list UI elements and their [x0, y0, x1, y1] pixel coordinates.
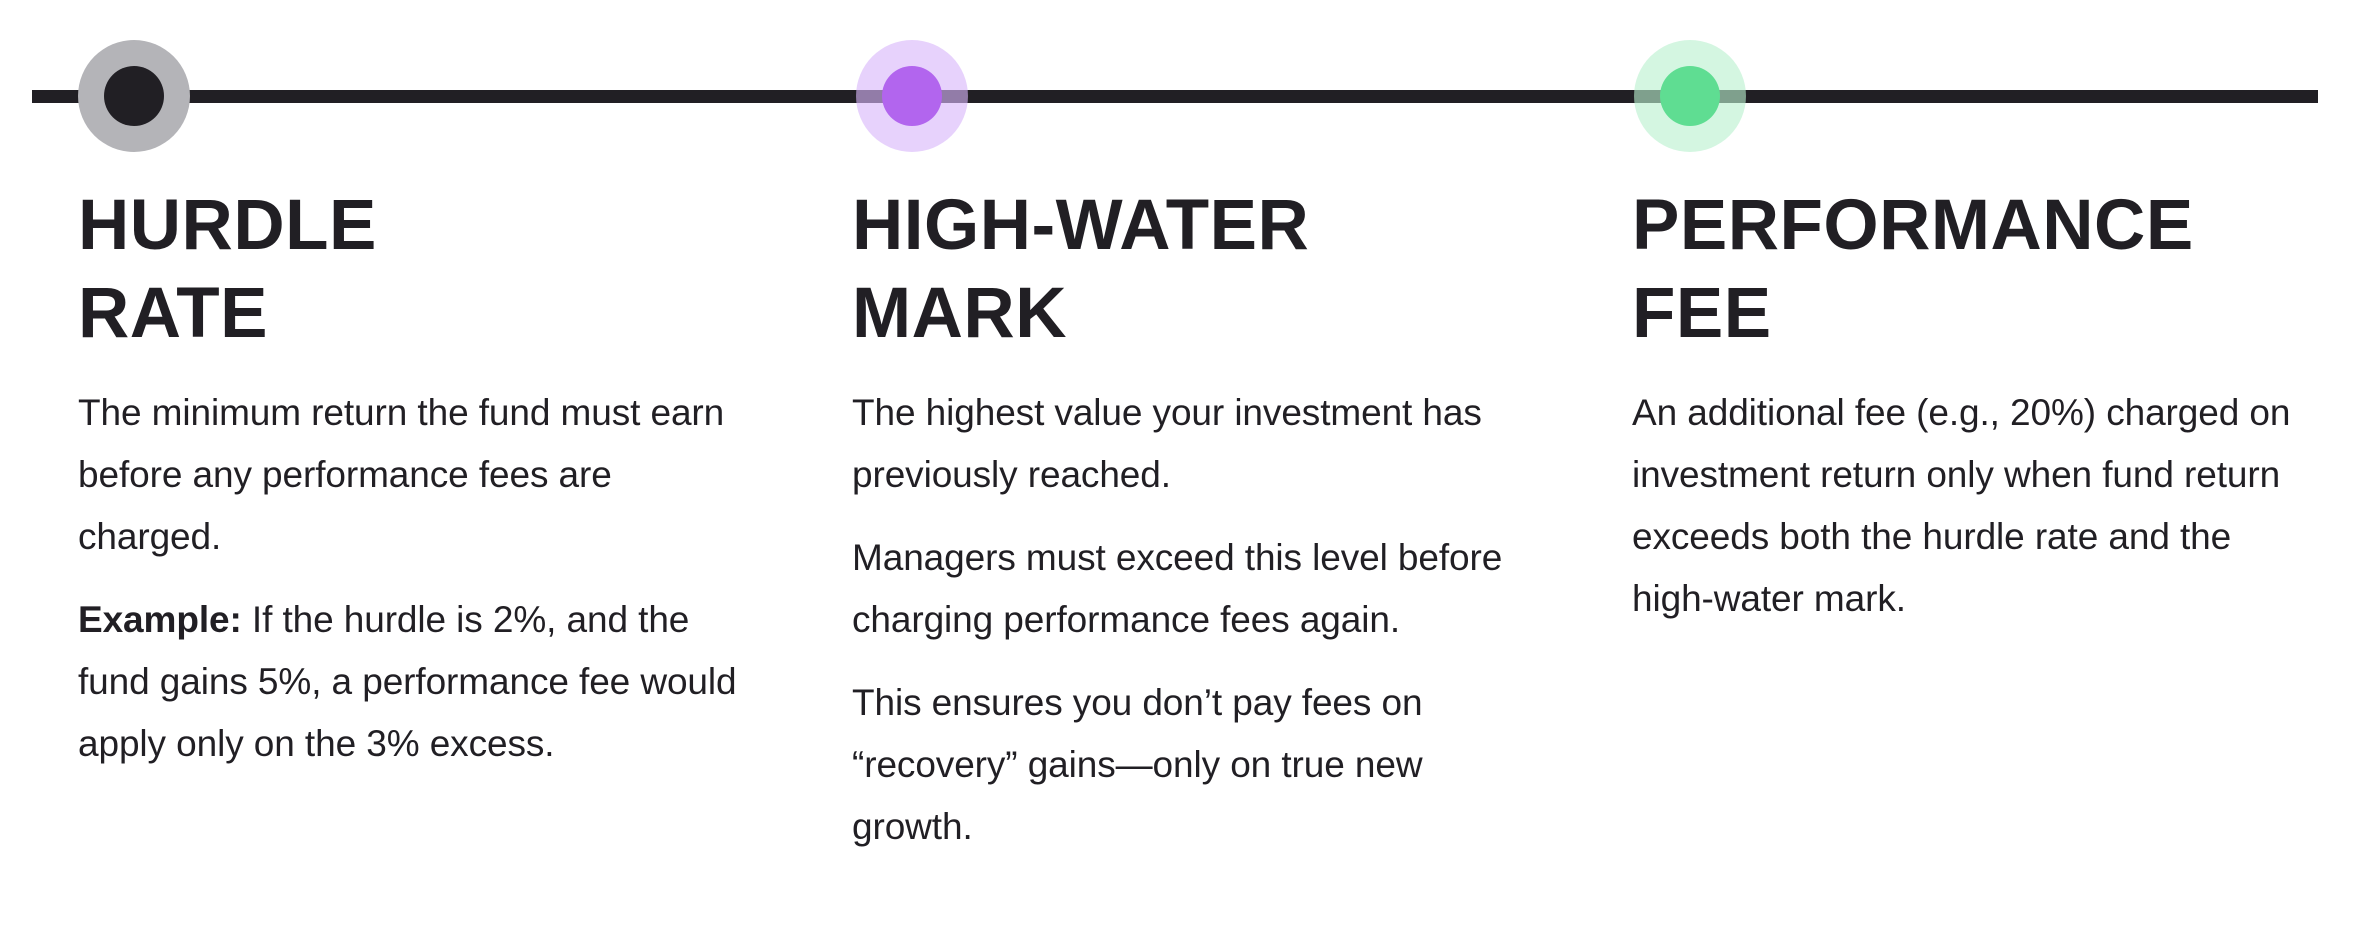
- paragraph-text: An additional fee (e.g., 20%) charged on…: [1632, 392, 2290, 619]
- paragraph-text: This ensures you don’t pay fees on “reco…: [852, 682, 1422, 847]
- paragraph-text: The highest value your investment has pr…: [852, 392, 1482, 495]
- paragraph-lead-label: Example:: [78, 599, 242, 640]
- column-body-performance-fee: An additional fee (e.g., 20%) charged on…: [1632, 382, 2292, 630]
- column-heading-hurdle-rate: HURDLE RATE: [78, 182, 738, 358]
- column-body-hurdle-rate: The minimum return the fund must earn be…: [78, 382, 738, 775]
- column-paragraph: This ensures you don’t pay fees on “reco…: [852, 672, 1532, 858]
- column-paragraph: An additional fee (e.g., 20%) charged on…: [1632, 382, 2292, 630]
- column-paragraph: The minimum return the fund must earn be…: [78, 382, 738, 568]
- column-heading-performance-fee: PERFORMANCE FEE: [1632, 182, 2292, 358]
- column-paragraph: Example: If the hurdle is 2%, and the fu…: [78, 589, 738, 775]
- column-body-high-water-mark: The highest value your investment has pr…: [852, 382, 1532, 858]
- timeline-column-high-water-mark: HIGH-WATER MARKThe highest value your in…: [852, 182, 1532, 858]
- paragraph-text: Managers must exceed this level before c…: [852, 537, 1502, 640]
- timeline-column-performance-fee: PERFORMANCE FEEAn additional fee (e.g., …: [1632, 182, 2292, 630]
- column-paragraph: The highest value your investment has pr…: [852, 382, 1532, 506]
- paragraph-text: The minimum return the fund must earn be…: [78, 392, 724, 557]
- timeline-columns: HURDLE RATEThe minimum return the fund m…: [0, 0, 2357, 948]
- column-paragraph: Managers must exceed this level before c…: [852, 527, 1532, 651]
- timeline-infographic: HURDLE RATEThe minimum return the fund m…: [0, 0, 2357, 948]
- timeline-column-hurdle-rate: HURDLE RATEThe minimum return the fund m…: [78, 182, 738, 775]
- column-heading-high-water-mark: HIGH-WATER MARK: [852, 182, 1532, 358]
